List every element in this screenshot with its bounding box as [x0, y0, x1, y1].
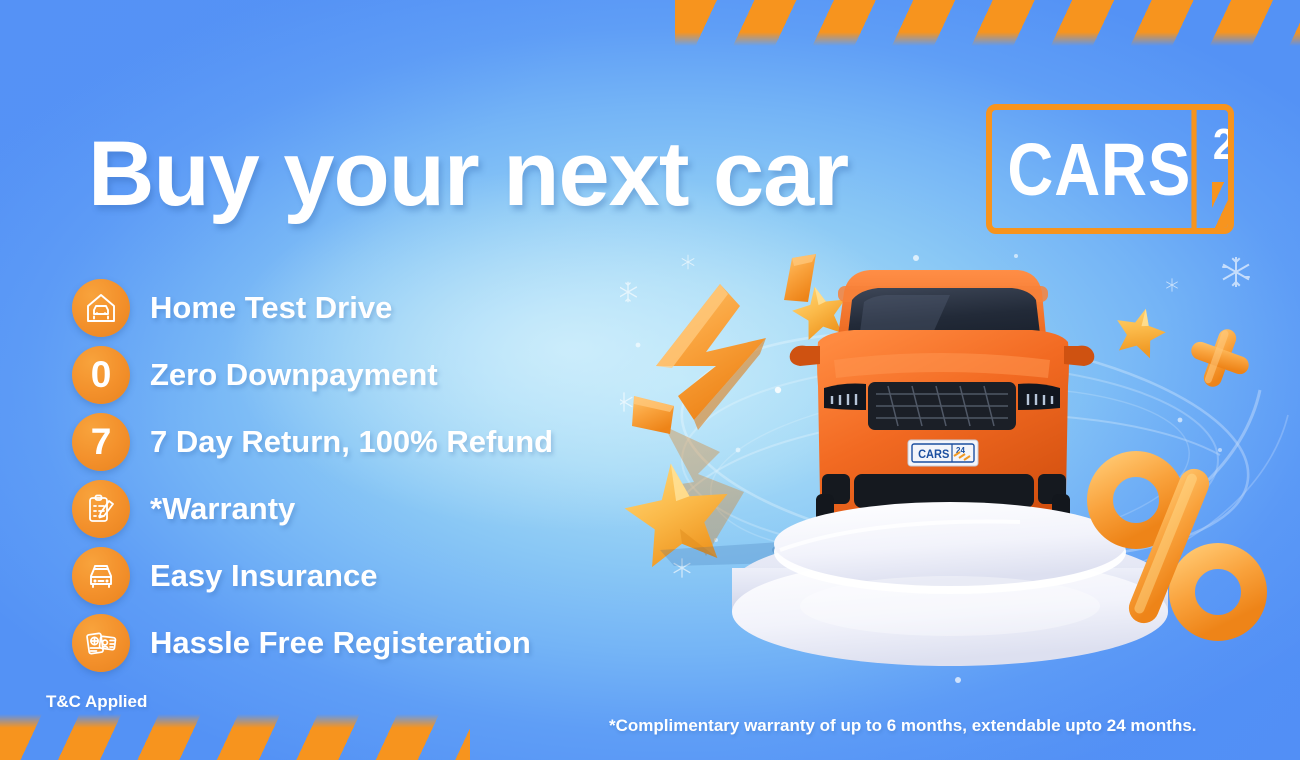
logo-wordmark: CARS — [1007, 110, 1196, 228]
logo-number: 24 — [1213, 120, 1228, 170]
seven-digit-icon: 7 — [72, 413, 130, 471]
list-item[interactable]: Easy Insurance — [72, 542, 553, 609]
home-car-icon — [72, 279, 130, 337]
list-item[interactable]: Hassle Free Registeration — [72, 609, 553, 676]
star-3d-right — [1110, 303, 1170, 361]
list-item[interactable]: 7 7 Day Return, 100% Refund — [72, 408, 553, 475]
license-plate: CARS 24 — [908, 440, 978, 466]
list-item-label: *Warranty — [150, 491, 295, 527]
svg-text:CARS: CARS — [918, 449, 950, 461]
list-item-label: 7 Day Return, 100% Refund — [150, 424, 553, 460]
list-item-label: Home Test Drive — [150, 290, 392, 326]
promo-banner: CARS 24 — [0, 0, 1300, 760]
car-front-icon — [72, 547, 130, 605]
plus-sign-3d — [1182, 320, 1259, 397]
terms-text: T&C Applied — [46, 692, 147, 712]
list-item[interactable]: Home Test Drive — [72, 274, 553, 341]
list-item-label: Hassle Free Registeration — [150, 625, 531, 661]
disclaimer-text: *Complimentary warranty of up to 6 month… — [609, 716, 1197, 736]
logo-number-panel: 24 — [1212, 110, 1228, 228]
zero-digit-icon: 0 — [72, 346, 130, 404]
list-item[interactable]: *Warranty — [72, 475, 553, 542]
hero-scene: CARS 24 — [620, 250, 1300, 690]
logo-stripes-icon — [1212, 182, 1228, 228]
badge-value: 7 — [91, 423, 112, 460]
decorative-stripes-top — [675, 0, 1300, 46]
documents-icon — [72, 614, 130, 672]
feature-list: Home Test Drive 0 Zero Downpayment 7 7 D… — [72, 274, 553, 676]
list-item-label: Zero Downpayment — [150, 357, 438, 393]
decorative-stripes-bottom — [0, 714, 470, 760]
list-item-label: Easy Insurance — [150, 558, 377, 594]
list-item[interactable]: 0 Zero Downpayment — [72, 341, 553, 408]
page-title: Buy your next car — [88, 128, 848, 220]
badge-value: 0 — [91, 356, 112, 393]
cars24-logo[interactable]: CARS 24 — [986, 104, 1234, 234]
clipboard-pen-icon — [72, 480, 130, 538]
